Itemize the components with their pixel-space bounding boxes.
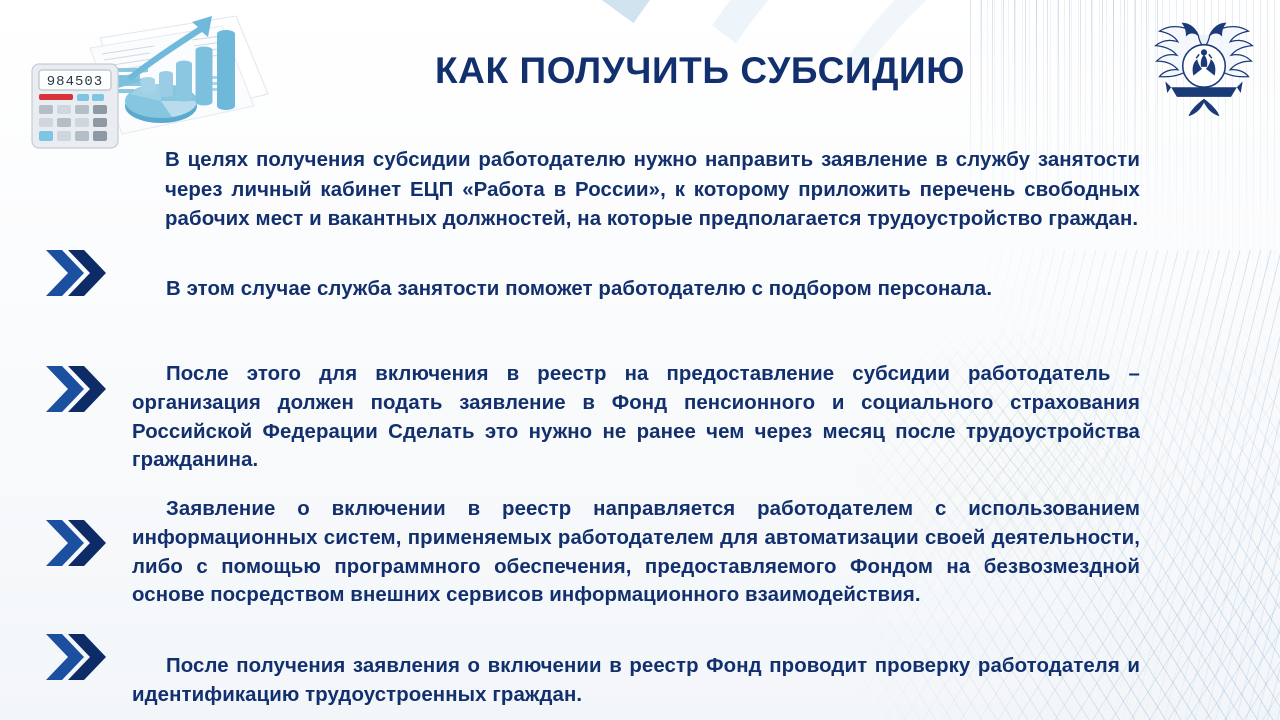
paragraph-3: После этого для включения в реестр на пр… (132, 360, 1140, 474)
paragraph-2: В этом случае служба занятости поможет р… (132, 275, 1140, 304)
body-content: В целях получения субсидии работодателю … (0, 0, 1280, 720)
slide-canvas: 984503 (0, 0, 1280, 720)
paragraph-1: В целях получения субсидии работодателю … (165, 146, 1140, 235)
paragraph-4: Заявление о включении в реестр направляе… (132, 495, 1140, 609)
paragraph-5: После получения заявления о включении в … (132, 652, 1140, 709)
